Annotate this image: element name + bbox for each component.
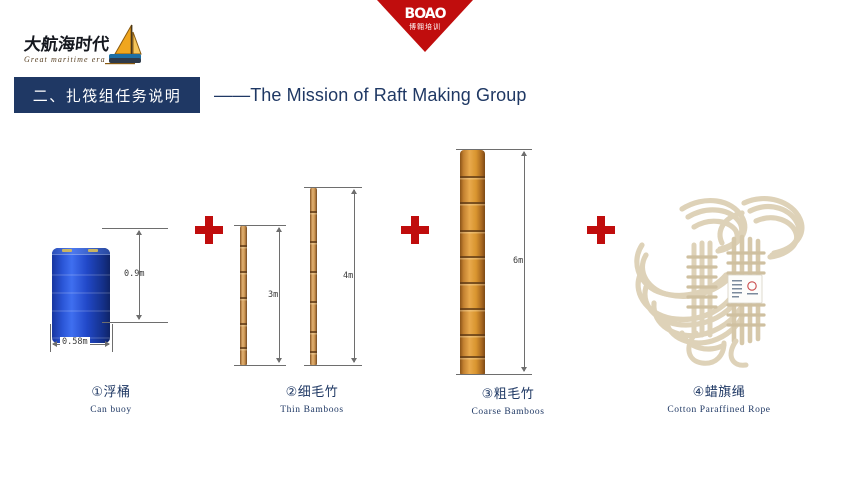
dim4-arrow-up-icon: [351, 189, 357, 194]
caption-en: Coarse Bamboos: [471, 407, 544, 417]
plus-separator-2: [392, 125, 438, 425]
thin-bamboo-3m-icon: [240, 225, 247, 365]
dim-label-4m: 4m: [343, 270, 353, 282]
badge-brand-cn: 博翱培训: [377, 22, 473, 32]
cotton-rope-illustration: [624, 125, 814, 373]
dim3-arrow-up-icon: [276, 227, 282, 232]
brand-text: 大航海时代 Great maritime era: [24, 37, 109, 64]
section-title-en: ——The Mission of Raft Making Group: [214, 85, 527, 106]
dim-arrow-right-icon: [105, 341, 110, 347]
badge-brand-en: BOAO: [377, 6, 473, 22]
slide-title-row: 二、扎筏组任务说明 ——The Mission of Raft Making G…: [0, 76, 850, 114]
dim4-axis: [354, 190, 355, 362]
sailboat-icon: [105, 24, 143, 64]
dim-extension-right: [112, 324, 113, 352]
dim4-tick-top: [304, 187, 362, 188]
section-title-cn: 二、扎筏组任务说明: [33, 85, 182, 106]
thin-bamboos-caption: ②细毛竹 Thin Bamboos: [280, 381, 343, 425]
material-item-coarse-bamboos: 6m ③粗毛竹 Coarse Bamboos: [438, 125, 578, 425]
dim6-tick-bottom: [456, 374, 532, 375]
material-item-cotton-rope: ④蜡旗绳 Cotton Paraffined Rope: [624, 125, 814, 425]
can-buoy-caption: ①浮桶 Can buoy: [90, 381, 131, 425]
coarse-bamboos-illustration: 6m: [438, 125, 578, 375]
plus-separator-3: [578, 125, 624, 425]
dim-arrow-left-icon: [52, 341, 57, 347]
dim-tick-bottom: [102, 322, 168, 323]
caption-cn: ①浮桶: [90, 381, 131, 400]
dim-extension-left: [50, 324, 51, 352]
dim6-arrow-down-icon: [521, 367, 527, 372]
dim-arrow-down-icon: [136, 315, 142, 320]
caption-cn: ④蜡旗绳: [667, 381, 770, 400]
caption-en: Cotton Paraffined Rope: [667, 405, 770, 415]
brand-logo: 大航海时代 Great maritime era: [24, 18, 164, 64]
dim-label-3m: 3m: [268, 289, 278, 301]
dim-arrow-up-icon: [136, 230, 142, 235]
caption-en: Thin Bamboos: [280, 405, 343, 415]
dim-label-height: 0.9m: [124, 269, 144, 279]
dim3-tick-bottom: [234, 365, 286, 366]
thin-bamboos-illustration: 3m 4m: [232, 125, 392, 373]
brand-name-en: Great maritime era: [24, 56, 109, 64]
coiled-rope-icon: [624, 183, 814, 373]
caption-en: Can buoy: [90, 405, 131, 415]
coarse-bamboo-6m-icon: [460, 150, 485, 375]
cotton-rope-caption: ④蜡旗绳 Cotton Paraffined Rope: [667, 381, 770, 425]
barrel-stage: 0.9m 0.58m: [36, 198, 186, 373]
coarse-bamboos-caption: ③粗毛竹 Coarse Bamboos: [471, 383, 544, 425]
dim4-tick-bottom: [304, 365, 362, 366]
thin-bamboo-stage: 3m 4m: [232, 133, 392, 373]
material-item-thin-bamboos: 3m 4m: [232, 125, 392, 425]
dim-tick-top: [102, 228, 168, 229]
plus-separator-1: [186, 125, 232, 425]
section-title-chip: 二、扎筏组任务说明: [14, 77, 200, 113]
dim6-tick-top: [456, 149, 532, 150]
plus-icon: [401, 216, 429, 244]
plus-icon: [195, 216, 223, 244]
blue-barrel-icon: [52, 248, 110, 343]
material-item-can-buoy: 0.9m 0.58m ①浮桶 Can buoy: [36, 125, 186, 425]
brand-name-cn: 大航海时代: [23, 37, 110, 54]
dim3-arrow-down-icon: [276, 358, 282, 363]
caption-cn: ③粗毛竹: [471, 383, 544, 402]
dim6-axis: [524, 152, 525, 371]
boao-badge: BOAO 博翱培训: [377, 0, 473, 52]
rope-stage: [624, 183, 814, 373]
caption-cn: ②细毛竹: [280, 381, 343, 400]
thin-bamboo-4m-icon: [310, 187, 317, 365]
dim6-arrow-up-icon: [521, 151, 527, 156]
materials-row: 0.9m 0.58m ①浮桶 Can buoy: [0, 125, 850, 425]
slide-canvas: 大航海时代 Great maritime era BOAO 博翱培训 二、扎筏组…: [0, 0, 850, 478]
dim3-tick-top: [234, 225, 286, 226]
dim4-arrow-down-icon: [351, 358, 357, 363]
dim3-axis: [279, 228, 280, 362]
dim-label-width: 0.58m: [60, 337, 90, 347]
plus-icon: [587, 216, 615, 244]
coarse-bamboo-stage: 6m: [438, 125, 578, 375]
dim-label-6m: 6m: [513, 255, 523, 267]
can-buoy-illustration: 0.9m 0.58m: [36, 125, 186, 373]
